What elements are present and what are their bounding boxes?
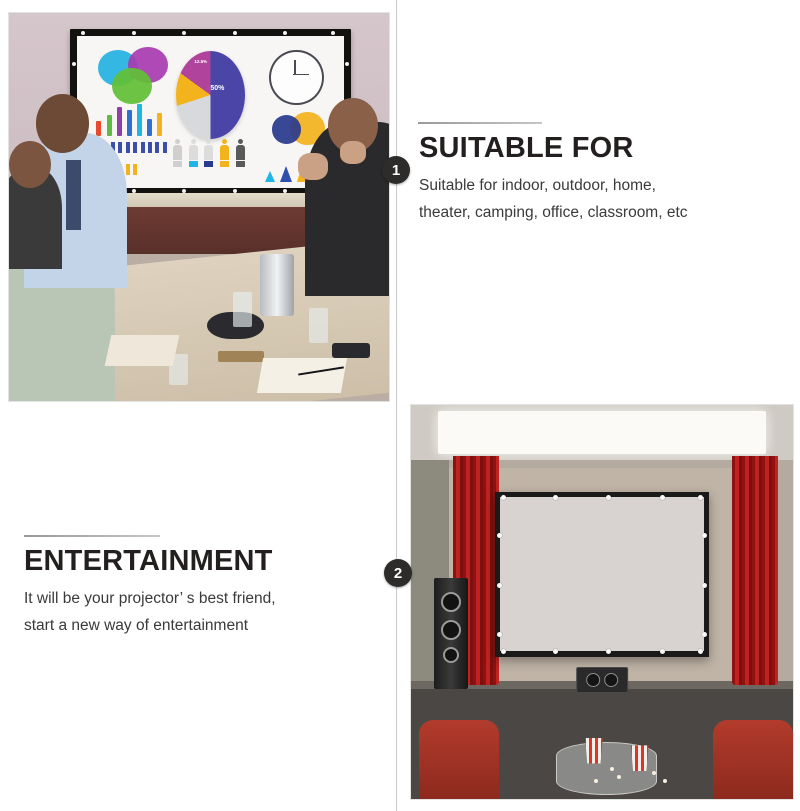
bar	[137, 104, 142, 136]
screen-grommet	[698, 649, 703, 654]
screen-grommet	[283, 31, 287, 35]
curtain-right	[732, 456, 778, 685]
bar	[127, 110, 132, 136]
remote-control	[332, 343, 370, 359]
screen-grommet	[497, 583, 502, 588]
clock-hand-minute	[294, 60, 296, 75]
screen-grommet	[702, 632, 707, 637]
skylight-panel	[438, 411, 767, 454]
human-figure	[236, 139, 245, 167]
projector-screen-theater	[495, 492, 709, 657]
vertical-divider	[396, 0, 397, 811]
attendee-head	[36, 94, 89, 152]
drinking-glass	[309, 308, 328, 343]
person-icon	[133, 164, 137, 175]
human-figure	[204, 139, 213, 167]
triangle	[280, 166, 292, 182]
speaker-driver	[443, 647, 459, 663]
feature-badge-2: 2	[384, 559, 412, 587]
feature-heading-entertainment: ENTERTAINMENT	[24, 546, 364, 577]
screen-grommet	[606, 649, 611, 654]
section-rule-entertainment	[24, 535, 160, 537]
person-icon	[126, 142, 130, 153]
human-figure	[173, 139, 182, 167]
speaker-driver	[604, 673, 618, 687]
notepad	[104, 335, 179, 366]
person-icon	[141, 142, 145, 153]
screen-grommet	[553, 649, 558, 654]
pie-label-12-5: 12.5%	[194, 59, 207, 64]
armchair-left	[419, 720, 499, 799]
person-icon	[148, 142, 152, 153]
section-rule-suitable-for	[418, 122, 542, 124]
screen-grommet	[606, 495, 611, 500]
pie-label-50: 50%	[210, 85, 224, 92]
bar	[147, 119, 152, 136]
feature-body-line-1: Suitable for indoor, outdoor, home,	[419, 173, 779, 200]
feature-body-line-2: start a new way of entertainment	[24, 613, 364, 640]
feature-heading-suitable-for: SUITABLE FOR	[419, 133, 779, 164]
presenter-hand	[298, 153, 328, 180]
human-figure	[220, 139, 229, 167]
screen-grommet	[660, 495, 665, 500]
person-icon	[126, 164, 130, 175]
person-icon	[155, 142, 159, 153]
human-figure	[189, 139, 198, 167]
product-feature-sheet: 50% 12.5%	[0, 0, 800, 811]
feature-body-line-2: theater, camping, office, classroom, etc	[419, 200, 779, 227]
person-icon	[133, 142, 137, 153]
conference-room-photo: 50% 12.5%	[8, 12, 390, 402]
presenter-hand	[340, 141, 367, 164]
projector-screen-surface	[500, 497, 704, 651]
attendee-head	[9, 141, 51, 188]
donut-navy	[272, 115, 301, 144]
bar	[107, 115, 112, 137]
person-icon	[163, 142, 167, 153]
attendee-tie	[66, 160, 81, 230]
feature-block-entertainment: ENTERTAINMENT It will be your projector’…	[24, 546, 364, 640]
feature-badge-1: 1	[382, 156, 410, 184]
home-theater-photo	[410, 404, 794, 800]
feature-body-line-1: It will be your projector’ s best friend…	[24, 586, 364, 613]
armchair-right	[713, 720, 793, 799]
person-icon	[118, 142, 122, 153]
bar	[96, 121, 101, 136]
bubble-chart-green	[112, 68, 152, 104]
feature-block-suitable-for: SUITABLE FOR Suitable for indoor, outdoo…	[419, 133, 779, 227]
screen-grommet	[132, 31, 136, 35]
speaker-driver	[586, 673, 600, 687]
screen-grommet	[72, 62, 76, 66]
pie-chart	[176, 51, 245, 139]
screen-grommet	[698, 495, 703, 500]
drinking-glass	[233, 292, 252, 327]
screen-grommet	[182, 31, 186, 35]
screen-grommet	[233, 31, 237, 35]
coffee-carafe	[260, 254, 294, 316]
screen-grommet	[702, 533, 707, 538]
bar	[157, 113, 162, 136]
eyeglasses	[218, 351, 264, 363]
screen-grommet	[702, 583, 707, 588]
notepad	[257, 358, 347, 393]
screen-grommet	[501, 649, 506, 654]
screen-grommet	[660, 649, 665, 654]
center-channel-speaker	[576, 667, 628, 693]
speaker-driver	[441, 592, 461, 612]
screen-grommet	[81, 31, 85, 35]
tower-speaker	[434, 578, 468, 688]
screen-grommet	[345, 62, 349, 66]
screen-grommet	[553, 495, 558, 500]
triangle	[265, 171, 275, 182]
bar	[117, 107, 122, 136]
bar-chart	[96, 103, 168, 136]
clock-icon	[269, 50, 324, 106]
screen-grommet	[331, 31, 335, 35]
human-figure-group	[173, 139, 248, 182]
speaker-driver	[441, 620, 461, 640]
